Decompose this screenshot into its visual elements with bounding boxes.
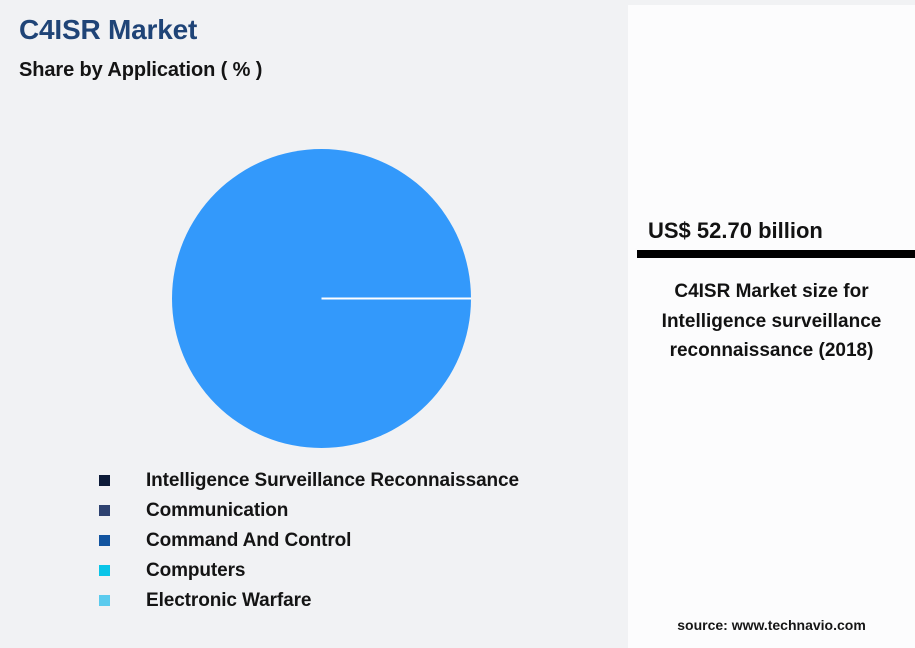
legend-item[interactable]: Computers — [99, 556, 619, 586]
legend-item[interactable]: Command And Control — [99, 526, 619, 556]
source-note: source: www.technavio.com — [628, 617, 915, 633]
legend-swatch-icon — [99, 595, 110, 606]
chart-subtitle: Share by Application ( % ) — [19, 59, 262, 82]
legend-item-label: Communication — [146, 496, 288, 526]
legend-swatch-icon — [99, 505, 110, 516]
pie-chart — [172, 149, 471, 448]
pie-slice-group — [172, 149, 471, 448]
callout-divider — [637, 250, 915, 258]
legend-item[interactable]: Electronic Warfare — [99, 586, 619, 616]
legend-item[interactable]: Communication — [99, 496, 619, 526]
legend-swatch-icon — [99, 475, 110, 486]
legend-item-label: Command And Control — [146, 526, 351, 556]
legend-item-label: Computers — [146, 556, 245, 586]
legend-item-label: Intelligence Surveillance Reconnaissance — [146, 466, 519, 496]
pie-chart-svg — [172, 149, 471, 448]
market-description: C4ISR Market size for Intelligence surve… — [642, 277, 901, 366]
market-value: US$ 52.70 billion — [648, 218, 823, 244]
legend-swatch-icon — [99, 565, 110, 576]
legend-swatch-icon — [99, 535, 110, 546]
legend-item[interactable]: Intelligence Surveillance Reconnaissance — [99, 466, 619, 496]
legend-item-label: Electronic Warfare — [146, 586, 311, 616]
chart-legend: Intelligence Surveillance Reconnaissance… — [99, 466, 619, 616]
callout-panel: US$ 52.70 billion C4ISR Market size for … — [628, 5, 915, 648]
chart-panel: C4ISR Market Share by Application ( % ) … — [0, 0, 627, 648]
page-title: C4ISR Market — [19, 14, 197, 46]
